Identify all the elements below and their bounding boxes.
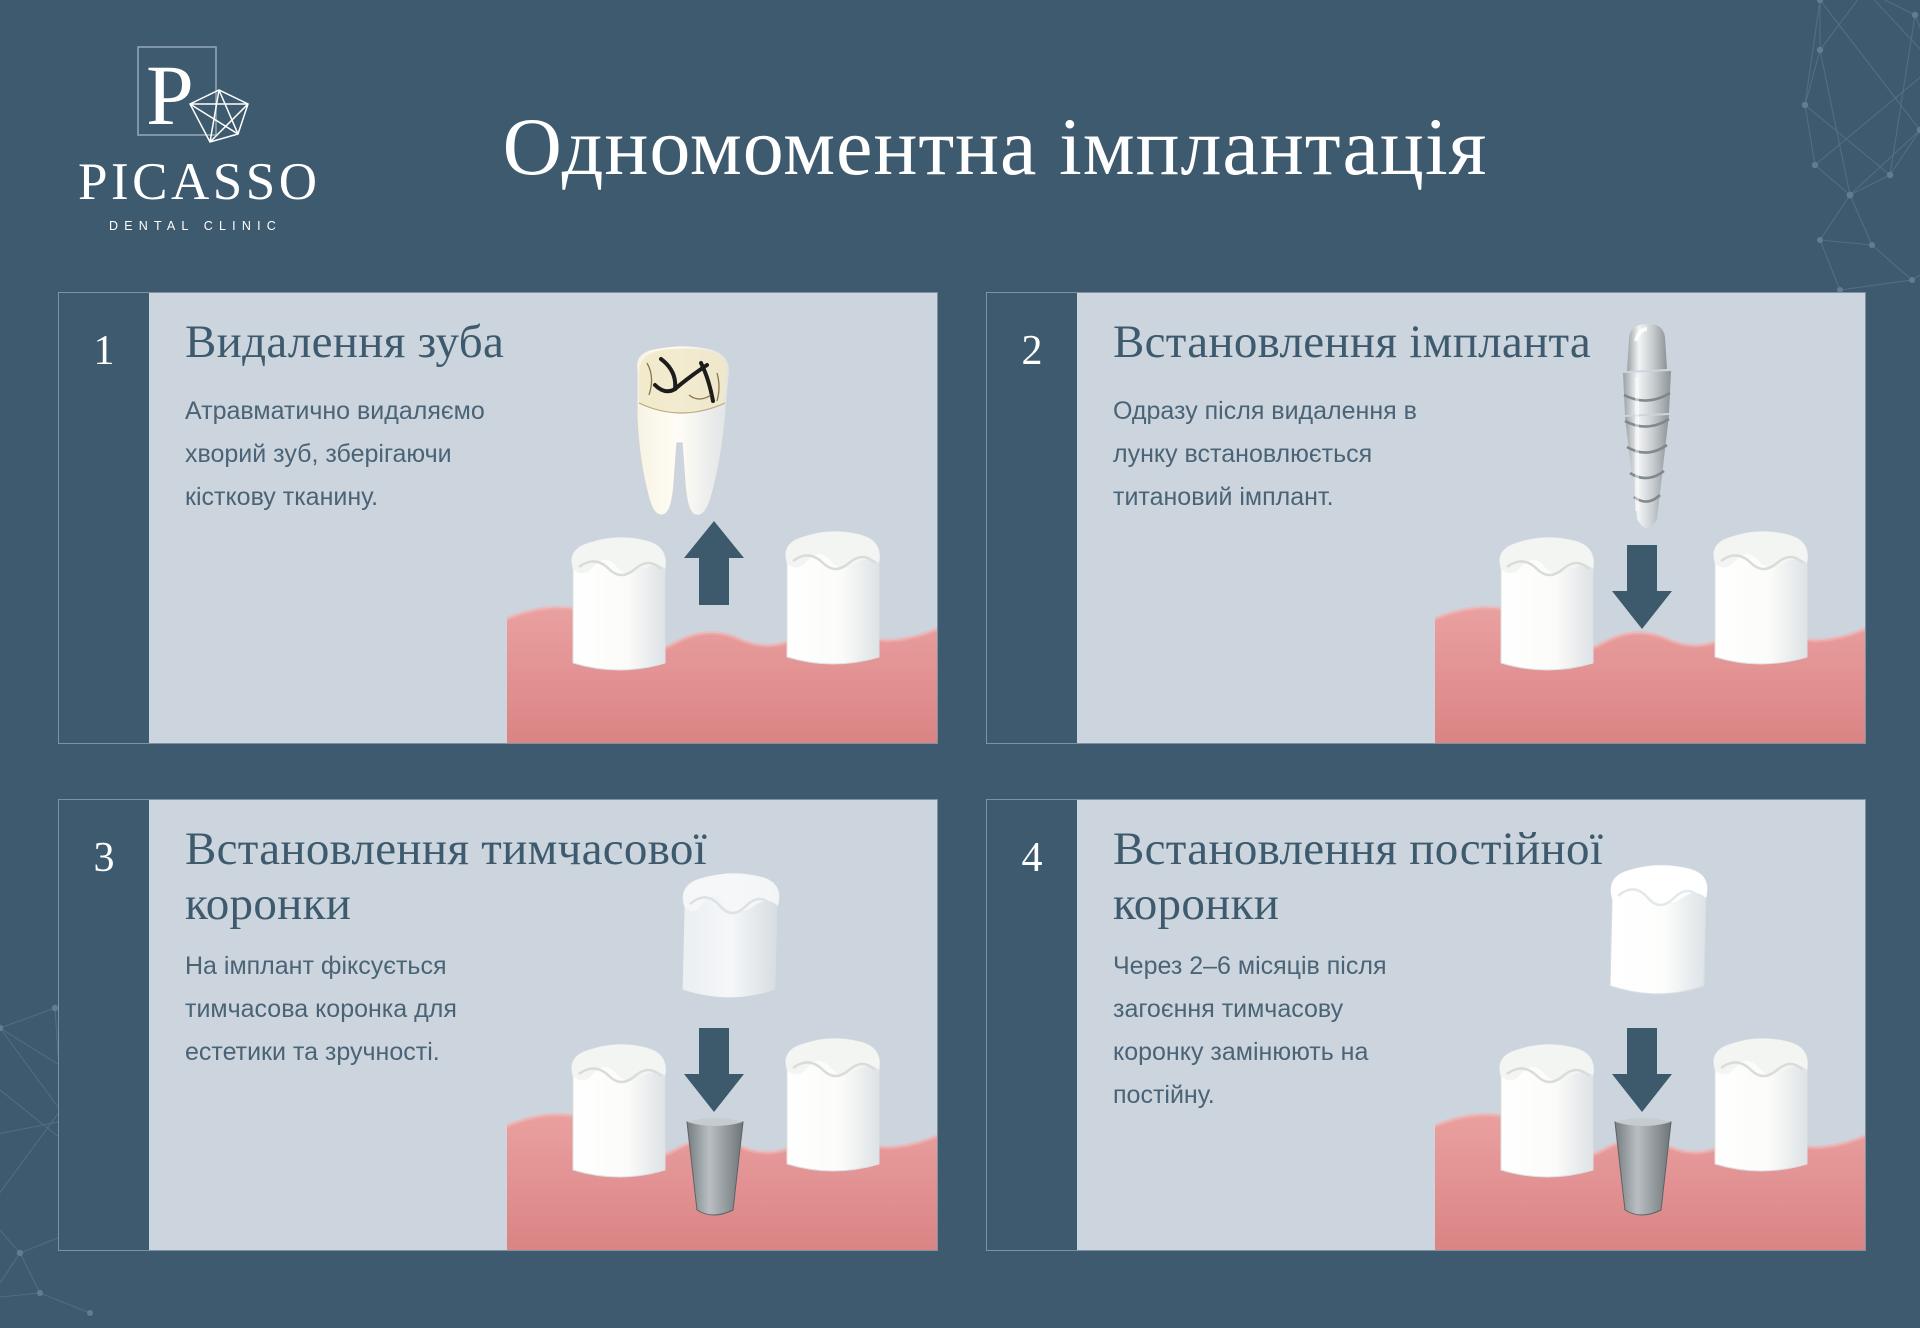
step-number-3: 3 bbox=[59, 800, 149, 1250]
step-content-4: Встановлення постійної коронки Через 2–6… bbox=[1077, 800, 1865, 1250]
step-number-2: 2 bbox=[987, 293, 1077, 743]
step-card-3[interactable]: 3 Встановлення тимчасової коронки На імп… bbox=[58, 799, 938, 1251]
step-content-1: Видалення зуба Атравматично видаляємо хв… bbox=[149, 293, 937, 743]
step-content-3: Встановлення тимчасової коронки На імпла… bbox=[149, 800, 937, 1250]
picasso-p-diamond-icon: P bbox=[98, 42, 288, 154]
step-text-2: Одразу після видалення в лунку встановлю… bbox=[1077, 370, 1477, 519]
step-title-1: Видалення зуба bbox=[149, 293, 937, 370]
step-number-4: 4 bbox=[987, 800, 1077, 1250]
brand-tagline: DENTAL CLINIC bbox=[78, 219, 308, 233]
step-title-4: Встановлення постійної коронки bbox=[1077, 800, 1865, 931]
step-number-1: 1 bbox=[59, 293, 149, 743]
brand-name: PICASSO bbox=[78, 156, 308, 209]
page-header: P PICASSO DENTAL CLINIC Одномоментна імп… bbox=[0, 0, 1920, 285]
page-title: Одномоментна імплантація bbox=[350, 100, 1640, 194]
step-card-2[interactable]: 2 Встановлення імпланта Одразу після вид… bbox=[986, 292, 1866, 744]
step-card-1[interactable]: 1 Видалення зуба Атравматично видаляємо … bbox=[58, 292, 938, 744]
step-card-4[interactable]: 4 Встановлення постійної коронки Через 2… bbox=[986, 799, 1866, 1251]
steps-grid: 1 Видалення зуба Атравматично видаляємо … bbox=[58, 292, 1866, 1251]
brand-logo[interactable]: P PICASSO DENTAL CLINIC bbox=[78, 42, 308, 233]
step-text-4: Через 2–6 місяців після загоєння тимчасо… bbox=[1077, 931, 1477, 1117]
svg-text:P: P bbox=[146, 47, 194, 143]
step-text-1: Атравматично видаляємо хворий зуб, збері… bbox=[149, 370, 549, 519]
step-title-3: Встановлення тимчасової коронки bbox=[149, 800, 937, 931]
step-content-2: Встановлення імпланта Одразу після видал… bbox=[1077, 293, 1865, 743]
step-text-3: На імплант фіксується тимчасова коронка … bbox=[149, 931, 549, 1074]
step-title-2: Встановлення імпланта bbox=[1077, 293, 1865, 370]
